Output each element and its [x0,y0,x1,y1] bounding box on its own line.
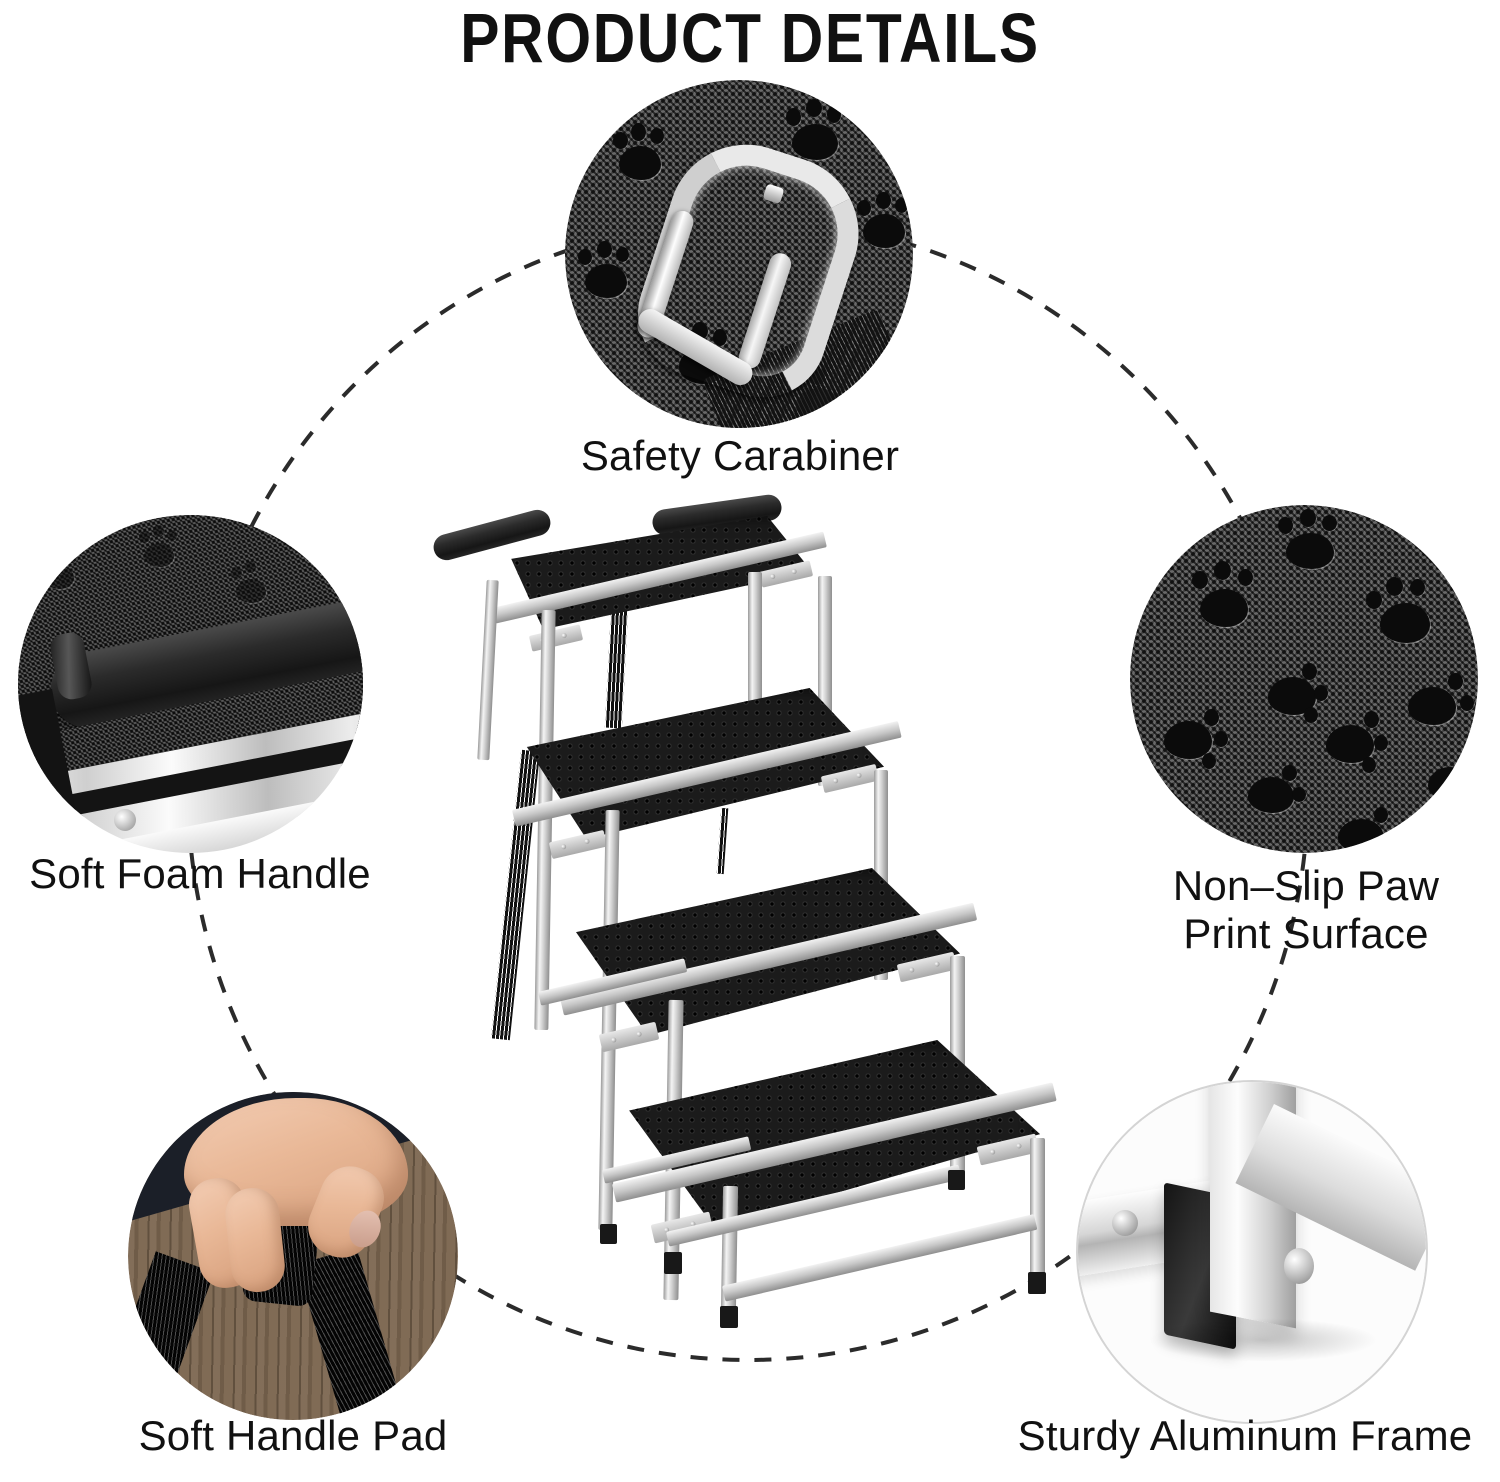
product-foam-handle [431,507,554,563]
rivet-icon [1112,1210,1138,1236]
callout-label-soft-handle-pad: Soft Handle Pad [93,1412,493,1460]
paw-print-icon [1272,511,1348,579]
paw-print-icon [136,525,186,573]
callout-non-slip-paw-print-surface [1130,505,1478,853]
paw-print-icon [573,240,641,306]
callout-safety-carabiner [565,80,913,428]
callout-sturdy-aluminum-frame [1076,1080,1428,1424]
paw-print-icon [1238,755,1314,829]
paw-print-icon [1188,561,1266,637]
rivet-icon [1284,1248,1314,1284]
paw-print-icon [605,120,675,190]
product-carry-strap [491,750,540,1040]
callout-soft-foam-handle [18,515,363,853]
aluminum-frame-photo [1078,1082,1426,1422]
paw-print-icon [1328,805,1400,853]
paw-print-icon [1402,665,1478,737]
callout-label-safety-carabiner: Safety Carabiner [460,432,1020,480]
infographic-canvas: PRODUCT DETAILS [0,0,1500,1482]
paw-print-icon [228,561,278,609]
callout-label-non-slip-paw-print-surface: Non–Slip Paw Print Surface [1112,862,1500,958]
foot-cap-icon [664,1252,682,1274]
paw-print-icon [1360,575,1442,653]
soft-handle-pad-photo [128,1092,458,1420]
product-carry-strap [605,608,628,729]
foot-cap-icon [1028,1272,1046,1294]
screw-icon [114,809,136,831]
product-image-pet-stairs [430,480,1080,1320]
paw-print-icon [1426,749,1478,811]
safety-carabiner-photo [565,80,913,428]
paw-print-icon [36,547,86,595]
callout-soft-handle-pad [128,1092,458,1420]
paw-print-icon [1316,701,1396,777]
soft-foam-handle-photo [18,515,363,853]
foot-cap-icon [720,1306,738,1328]
callout-label-sturdy-aluminum-frame: Sturdy Aluminum Frame [990,1412,1500,1460]
callout-label-soft-foam-handle: Soft Foam Handle [0,850,400,898]
foot-cap-icon [600,1224,617,1244]
product-carry-strap [717,808,729,874]
paw-print-icon [853,190,913,256]
foot-cap-icon [948,1170,965,1190]
paw-print-icon [1158,701,1236,775]
paw-print-surface-photo [1130,505,1478,853]
